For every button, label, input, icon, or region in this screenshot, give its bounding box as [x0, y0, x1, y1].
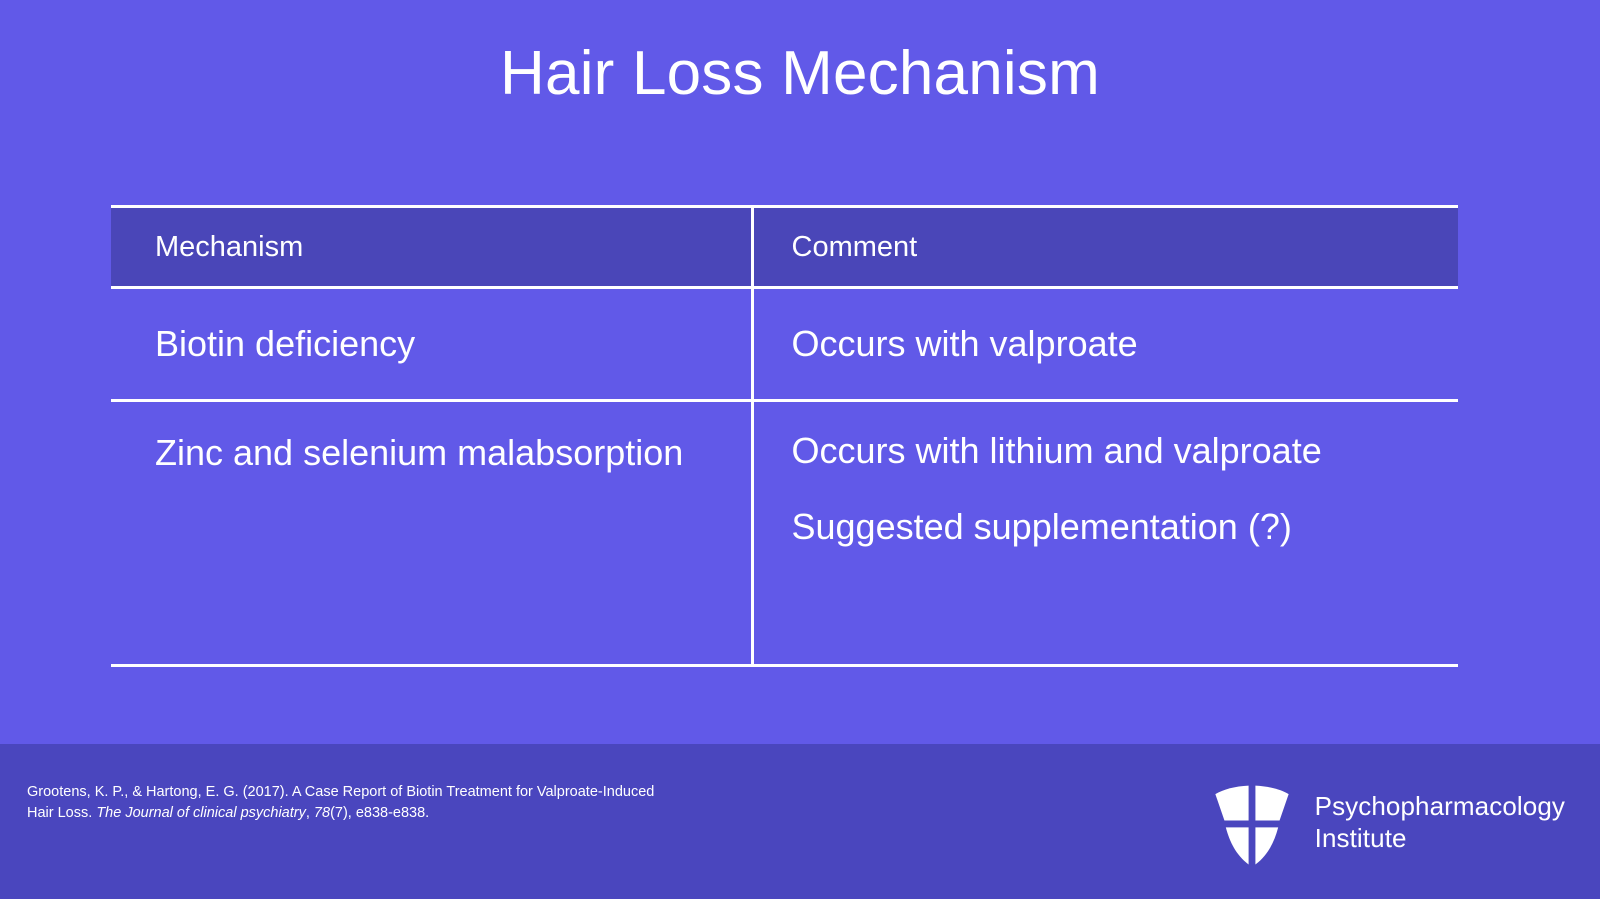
citation-journal-name: The Journal of clinical psychiatry	[96, 805, 306, 821]
comment-line: Occurs with lithium and valproate	[792, 430, 1449, 472]
table-row: Biotin deficiency Occurs with valproate	[111, 288, 1458, 401]
table-row: Zinc and selenium malabsorption Occurs w…	[111, 401, 1458, 666]
column-header-comment: Comment	[752, 207, 1458, 288]
brand-name-line-1: Psychopharmacology	[1315, 791, 1565, 823]
shield-quadrant-icon	[1211, 780, 1293, 866]
cell-mechanism-1: Biotin deficiency	[111, 288, 752, 401]
brand-name-line-2: Institute	[1315, 823, 1565, 855]
mechanism-table: Mechanism Comment Biotin deficiency Occu…	[111, 205, 1458, 667]
citation-separator: ,	[306, 805, 314, 821]
cell-comment-2: Occurs with lithium and valproate Sugges…	[752, 401, 1458, 666]
table-header-row: Mechanism Comment	[111, 207, 1458, 288]
citation-line-1: Grootens, K. P., & Hartong, E. G. (2017)…	[27, 784, 654, 800]
citation-reference: Grootens, K. P., & Hartong, E. G. (2017)…	[27, 782, 787, 823]
comment-line: Suggested supplementation (?)	[792, 506, 1449, 548]
cell-mechanism-2: Zinc and selenium malabsorption	[111, 401, 752, 666]
brand-logo: Psychopharmacology Institute	[1211, 780, 1565, 866]
cell-comment-1: Occurs with valproate	[752, 288, 1458, 401]
citation-line-2-prefix: Hair Loss.	[27, 805, 96, 821]
citation-line-2-suffix: (7), e838-e838.	[330, 805, 429, 821]
page-title: Hair Loss Mechanism	[0, 40, 1600, 108]
column-header-mechanism: Mechanism	[111, 207, 752, 288]
mechanism-table-container: Mechanism Comment Biotin deficiency Occu…	[111, 205, 1458, 667]
footer-bar: Grootens, K. P., & Hartong, E. G. (2017)…	[0, 744, 1600, 899]
brand-name: Psychopharmacology Institute	[1315, 791, 1565, 854]
comment-line: Occurs with valproate	[792, 323, 1449, 365]
citation-volume: 78	[314, 805, 330, 821]
